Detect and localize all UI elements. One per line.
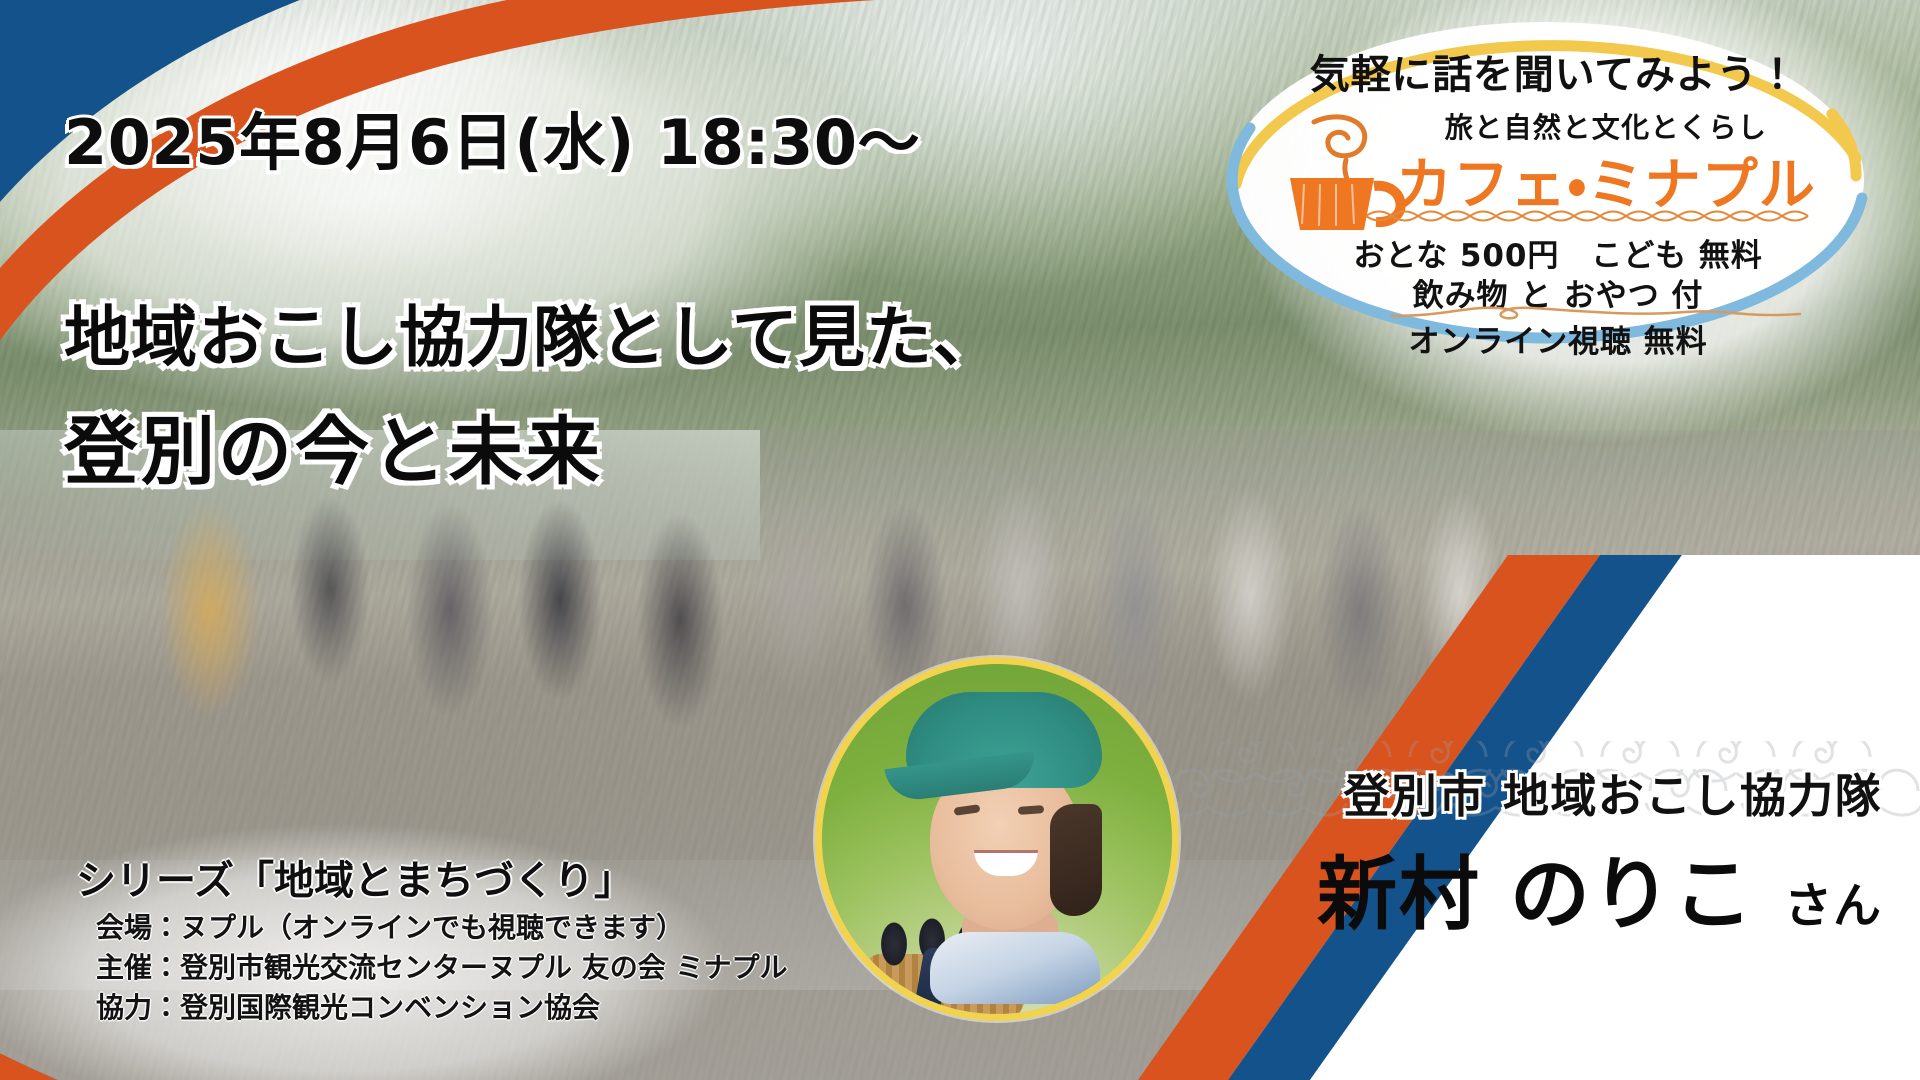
event-title-line-1: 地域おこし協力隊として見た、 [64,284,1000,380]
speaker-name-block: 新村 のりこ さん [1317,830,1882,946]
cooperation-line: 協力：登別国際観光コンベンション協会 [96,988,788,1028]
event-date: 2025年8月6日(水) 18:30〜 [64,92,920,182]
speaker-portrait-photo [822,664,1172,1014]
price-online: オンライン視聴 無料 [1248,316,1868,361]
portrait-hair [1050,804,1102,916]
portrait-scarf [930,932,1100,1004]
speaker-honorific: さん [1784,878,1882,934]
rope-divider-icon [1364,206,1834,226]
venue-line: 会場：ヌプル（オンラインでも視聴できます） [96,908,788,948]
footer-details: 会場：ヌプル（オンラインでも視聴できます） 主催：登別市観光交流センターヌプル … [96,908,788,1027]
cafe-minapuru-logo: 気軽に話を聞いてみよう！ 旅と自然と文化とくらし カフェ・ミナプル おとな 50… [1196,8,1896,378]
speaker-name: 新村 のりこ [1317,848,1754,941]
price-adult: おとな 500円 こども 無料 [1248,230,1868,275]
event-flyer: 2025年8月6日(水) 18:30〜 地域おこし協力隊として見た、 登別の今と… [0,0,1920,1080]
event-title-line-2: 登別の今と未来 [64,392,603,499]
organizer-line: 主催：登別市観光交流センターヌプル 友の会 ミナプル [96,948,788,988]
speaker-role: 登別市 地域おこし協力隊 [1343,760,1882,826]
series-title: シリーズ「地域とまちづくり」 [76,848,634,906]
logo-headline: 気軽に話を聞いてみよう！ [1244,42,1864,100]
